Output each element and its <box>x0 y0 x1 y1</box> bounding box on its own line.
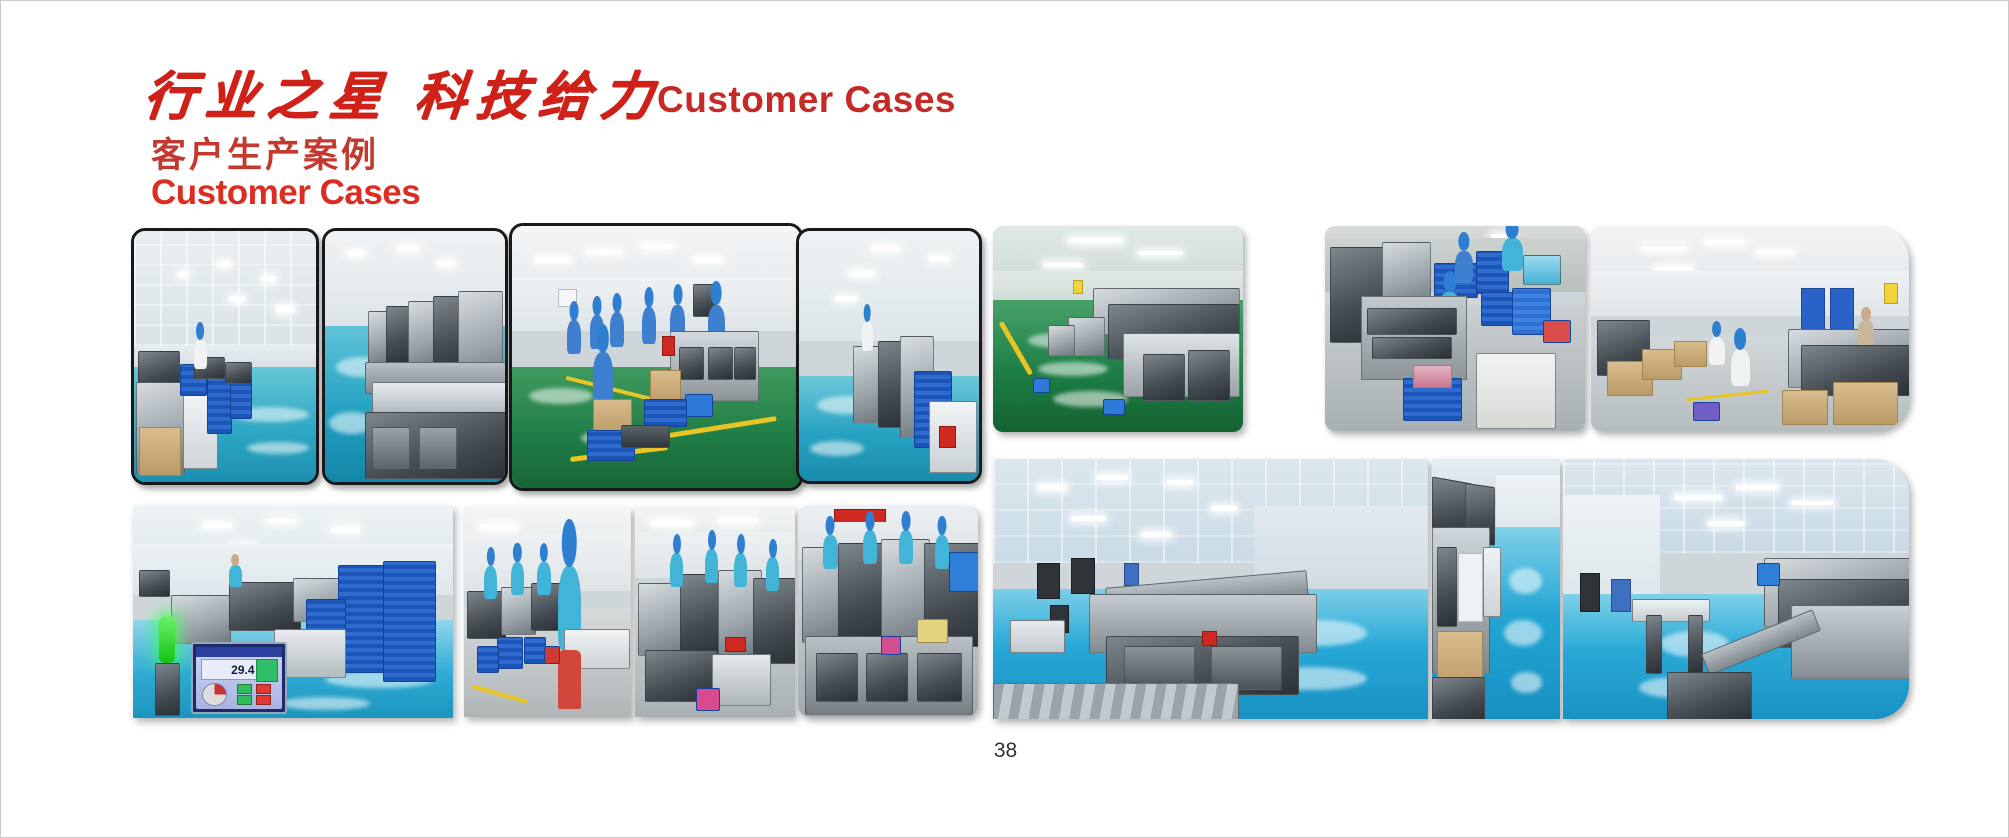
photo-scene <box>799 231 979 481</box>
photo-tl-1 <box>131 228 319 485</box>
hmi-titlebar <box>196 647 282 657</box>
photo-scene <box>134 231 316 482</box>
hmi-terminal[interactable]: 29.4 <box>191 642 287 714</box>
photo-bl-2 <box>464 507 631 717</box>
photo-scene <box>464 507 631 717</box>
photo-bl-4 <box>798 505 978 717</box>
hmi-button-red-1[interactable] <box>256 684 271 694</box>
calligraphy-title: 行业之星 科技给力 <box>140 54 667 129</box>
hmi-status-ok <box>256 659 279 682</box>
photo-scene <box>1563 459 1909 719</box>
photo-scene <box>1591 226 1909 431</box>
photo-scene <box>512 226 800 488</box>
photo-tl-2 <box>322 228 508 485</box>
photo-tr-1 <box>993 226 1243 432</box>
photo-br-1 <box>993 459 1428 719</box>
photo-bl-3 <box>635 507 795 717</box>
photo-scene <box>993 226 1243 432</box>
photo-tr-3 <box>1591 226 1909 431</box>
hmi-gauge <box>202 683 226 706</box>
photo-scene <box>1325 226 1585 431</box>
photo-br-2 <box>1432 459 1560 719</box>
hmi-button-green-2[interactable] <box>237 695 252 705</box>
photo-scene <box>635 507 795 717</box>
photo-scene: 29.4 <box>133 506 453 718</box>
hmi-screen: 29.4 <box>196 647 282 709</box>
photo-bl-1: 29.4 <box>133 506 453 718</box>
photo-scene <box>325 231 505 482</box>
hmi-button-green-1[interactable] <box>237 684 252 694</box>
photo-scene <box>993 459 1428 719</box>
stack-light-green <box>159 616 175 663</box>
photo-br-3 <box>1563 459 1909 719</box>
photo-scene <box>1432 459 1560 719</box>
slide-header: 行业之星 科技给力 Customer Cases 客户生产案例 Customer… <box>1 1 2009 216</box>
photo-tl-3 <box>509 223 803 491</box>
photo-tr-2 <box>1325 226 1585 431</box>
photo-scene <box>798 505 978 717</box>
subtitle-english: Customer Cases <box>151 173 420 213</box>
subtitle-chinese: 客户生产案例 <box>151 127 379 178</box>
photo-tl-4 <box>796 228 982 484</box>
headline-english: Customer Cases <box>657 79 956 121</box>
hmi-button-red-2[interactable] <box>256 695 271 705</box>
page-number: 38 <box>1 739 2009 763</box>
hmi-weight-readout: 29.4 <box>201 659 258 680</box>
slide-canvas: 行业之星 科技给力 Customer Cases 客户生产案例 Customer… <box>0 0 2009 838</box>
